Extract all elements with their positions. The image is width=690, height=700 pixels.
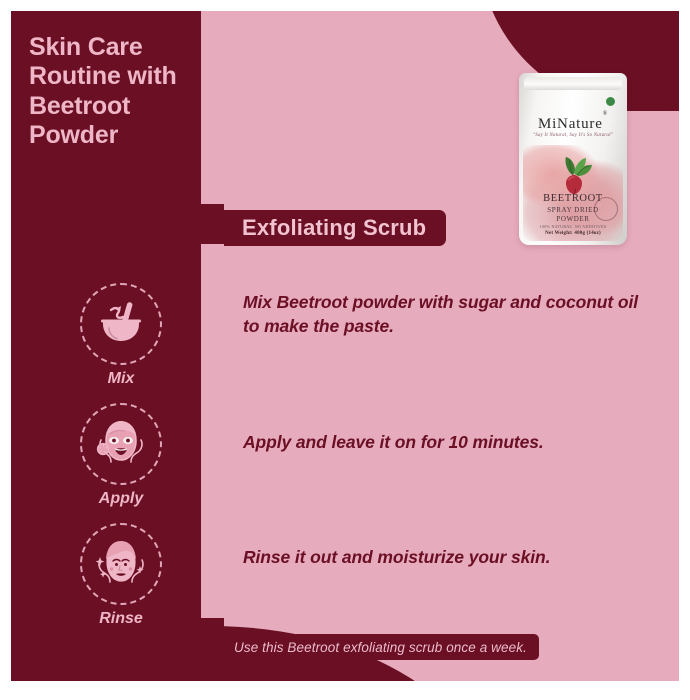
- beetroot-illustration: [544, 151, 602, 195]
- poster-canvas: Skin Care Routine with Beetroot Powder M…: [11, 11, 679, 681]
- product-brand: MiNature®: [519, 116, 627, 133]
- left-panel-header-extension: [11, 204, 224, 244]
- instruction-text: Apply and leave it on for 10 minutes.: [243, 431, 544, 455]
- registered-mark: ®: [603, 111, 608, 117]
- pouch-zip-top: [524, 77, 622, 90]
- product-micro-text: 100% NATURAL. NO ADDITIVES: [519, 224, 627, 229]
- clean-face-icon: [80, 523, 162, 605]
- step-label: Rinse: [63, 610, 179, 628]
- section-header-badge: Exfoliating Scrub: [224, 210, 446, 246]
- step-label: Apply: [63, 490, 179, 508]
- step-item-apply: Apply: [63, 403, 179, 523]
- product-net-weight: Net Weight: 400g (14oz): [519, 231, 627, 236]
- step-label: Mix: [63, 370, 179, 388]
- footer-note: Use this Beetroot exfoliating scrub once…: [224, 634, 539, 660]
- mortar-pestle-icon: [80, 283, 162, 365]
- product-seal-icon: [594, 197, 618, 221]
- step-item-mix: Mix: [63, 283, 179, 403]
- step-item-rinse: Rinse: [63, 523, 179, 643]
- product-tagline: "Say It Natural, Say It's So Natural": [519, 133, 627, 138]
- steps-list: Mix Appl: [63, 283, 179, 643]
- pouch-body: MiNature® "Say It Natural, Say It's So N…: [519, 73, 627, 245]
- face-with-mask-icon: [80, 403, 162, 485]
- product-package-image: MiNature® "Say It Natural, Say It's So N…: [519, 73, 627, 245]
- page-title: Skin Care Routine with Beetroot Powder: [29, 33, 199, 150]
- leaf-icon: [606, 97, 615, 106]
- instruction-text: Mix Beetroot powder with sugar and cocon…: [243, 291, 643, 338]
- instruction-text: Rinse it out and moisturize your skin.: [243, 546, 550, 570]
